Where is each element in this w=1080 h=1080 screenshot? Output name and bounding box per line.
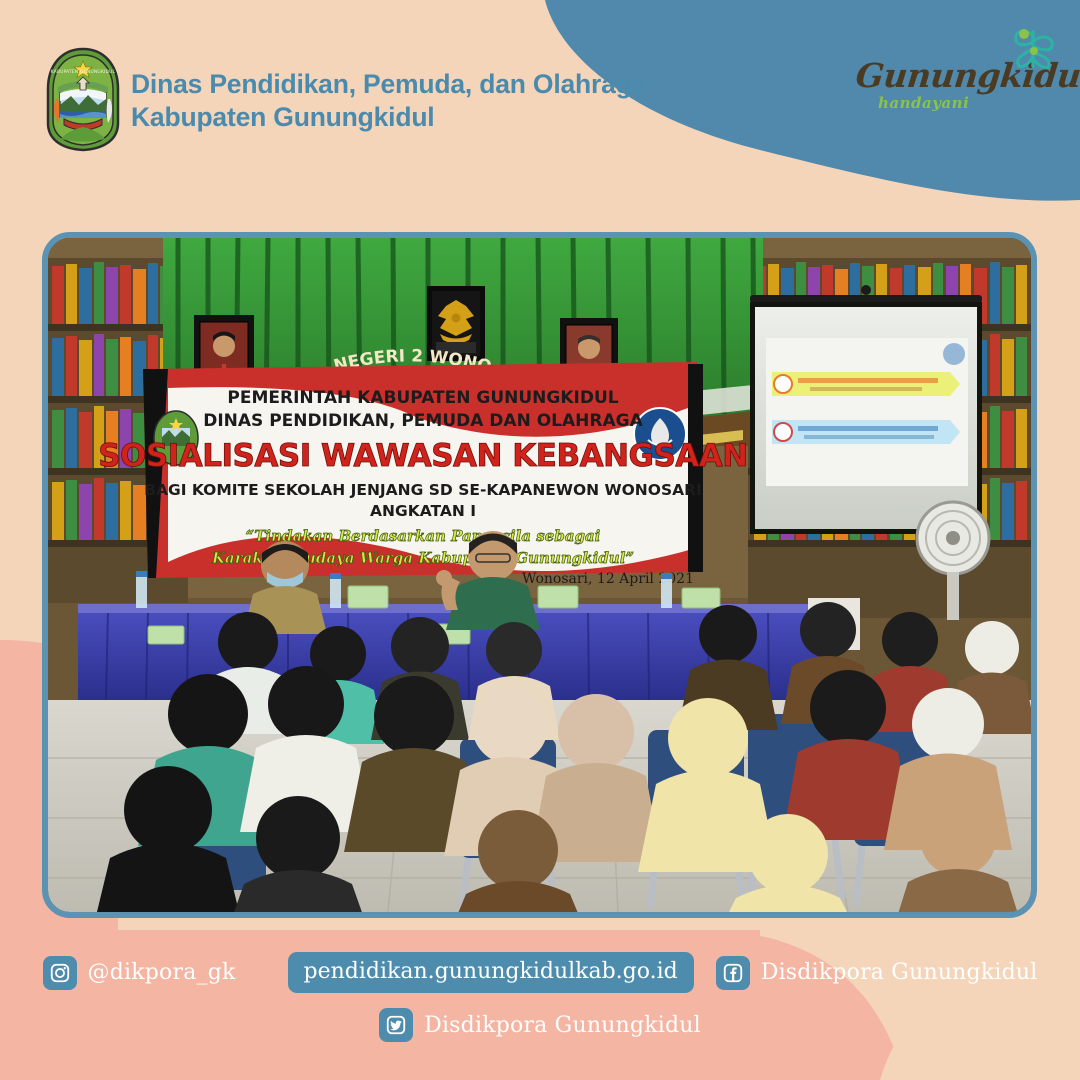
page-title: Dinas Pendidikan, Pemuda, dan Olahraga K… <box>131 68 646 134</box>
event-banner: PEMERINTAH KABUPATEN GUNUNGKIDUL DINAS P… <box>98 362 748 587</box>
svg-text:BAGI KOMITE SEKOLAH JENJANG SD: BAGI KOMITE SEKOLAH JENJANG SD SE-KAPANE… <box>144 481 702 499</box>
gunungkidul-brand-logo: Gunungkidul handayani <box>856 22 1066 134</box>
instagram-link[interactable]: @dikpora_gk <box>43 956 236 990</box>
svg-text:PEMERINTAH KABUPATEN GUNUNGKID: PEMERINTAH KABUPATEN GUNUNGKIDUL <box>227 388 618 408</box>
svg-text:KABUPATEN GUNUNGKIDUL: KABUPATEN GUNUNGKIDUL <box>51 69 116 75</box>
svg-text:ANGKATAN I: ANGKATAN I <box>370 502 476 520</box>
facebook-link[interactable]: Disdikpora Gunungkidul <box>716 956 1038 990</box>
dragonfly-flourish-icon <box>1004 22 1062 80</box>
poster-canvas: KABUPATEN GUNUNGKIDUL Dinas Pendidikan, … <box>0 0 1080 1080</box>
facebook-icon[interactable] <box>716 956 750 990</box>
twitter-link[interactable]: Disdikpora Gunungkidul <box>379 1008 701 1042</box>
instagram-handle: @dikpora_gk <box>88 960 236 985</box>
instagram-icon[interactable] <box>43 956 77 990</box>
presentation-projector-screen <box>750 285 982 534</box>
brand-tagline: handayani <box>878 94 969 112</box>
event-photo: NEGERI 2 WONO <box>48 238 1031 912</box>
svg-text:“Tindakan Berdasarkan Pancasil: “Tindakan Berdasarkan Pancasila sebagai <box>246 527 601 545</box>
twitter-icon[interactable] <box>379 1008 413 1042</box>
header: KABUPATEN GUNUNGKIDUL Dinas Pendidikan, … <box>0 0 1080 190</box>
event-photo-frame: NEGERI 2 WONO <box>42 232 1037 918</box>
footer-social-bar: @dikpora_gk pendidikan.gunungkidulkab.go… <box>0 930 1080 1080</box>
svg-text:SOSIALISASI WAWASAN KEBANGSAAN: SOSIALISASI WAWASAN KEBANGSAAN <box>98 438 748 474</box>
website-url-badge[interactable]: pendidikan.gunungkidulkab.go.id <box>288 952 694 993</box>
twitter-account-name: Disdikpora Gunungkidul <box>424 1013 701 1038</box>
facebook-page-name: Disdikpora Gunungkidul <box>761 960 1038 985</box>
page-title-line1: Dinas Pendidikan, Pemuda, dan Olahraga <box>131 69 646 99</box>
svg-text:DINAS PENDIDIKAN, PEMUDA DAN O: DINAS PENDIDIKAN, PEMUDA DAN OLAHRAGA <box>203 411 643 431</box>
page-title-line2: Kabupaten Gunungkidul <box>131 101 646 134</box>
gunungkidul-regency-coat-of-arms-icon: KABUPATEN GUNUNGKIDUL <box>44 47 122 152</box>
